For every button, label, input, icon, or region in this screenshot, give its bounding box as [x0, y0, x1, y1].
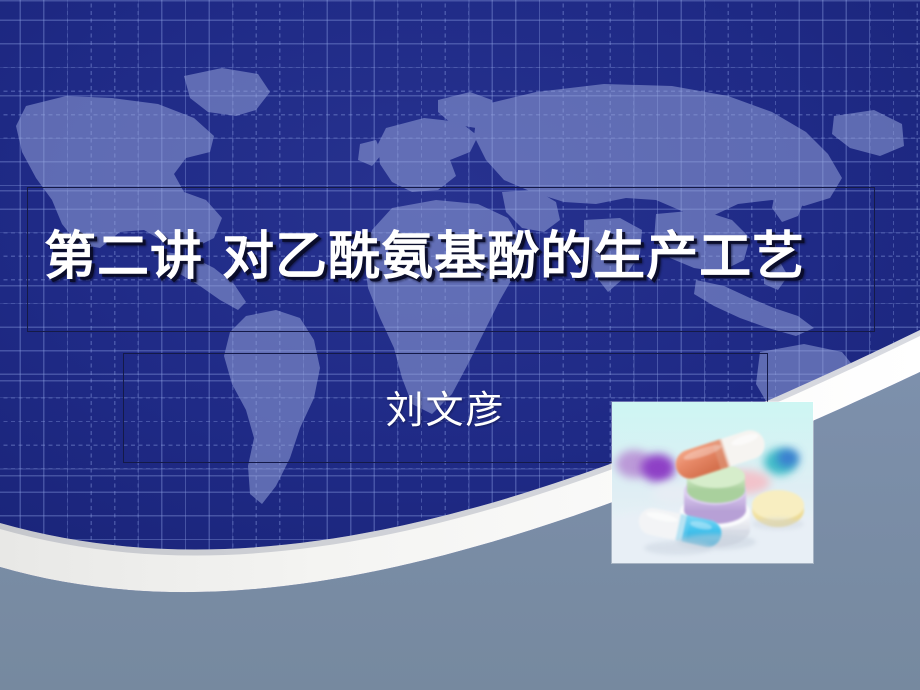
- pills-photo: [612, 402, 813, 563]
- presentation-title-slide: 第二讲 对乙酰氨基酚的生产工艺 刘文彦: [0, 0, 920, 690]
- page-title: 第二讲 对乙酰氨基酚的生产工艺: [44, 226, 884, 288]
